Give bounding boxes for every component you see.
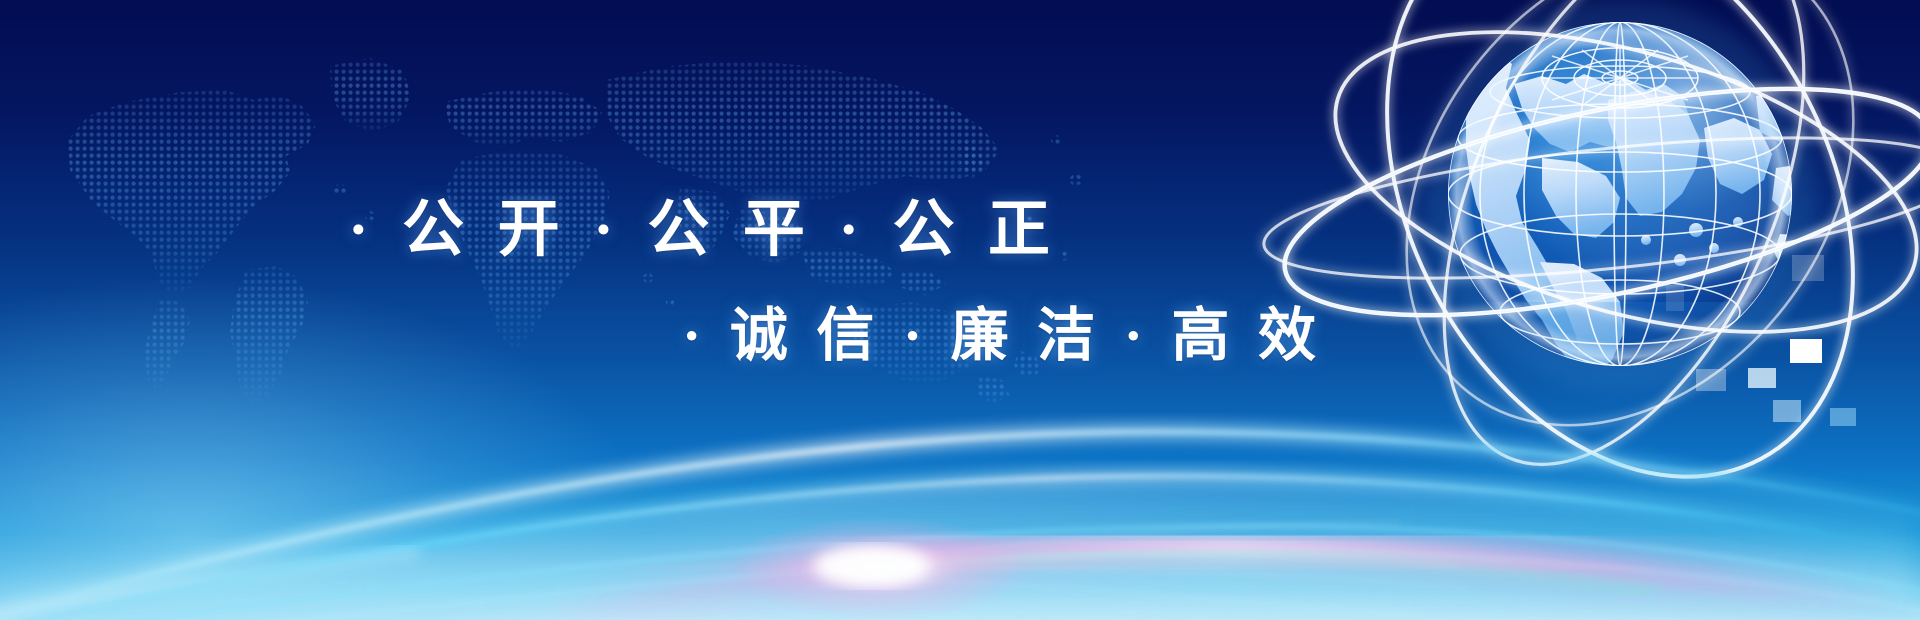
decorative-square bbox=[1792, 255, 1824, 281]
light-wave-group bbox=[0, 300, 1920, 620]
banner-root: · 公 开 · 公 平 · 公 正 · 诚 信 · 廉 洁 · 高 效 bbox=[0, 0, 1920, 620]
